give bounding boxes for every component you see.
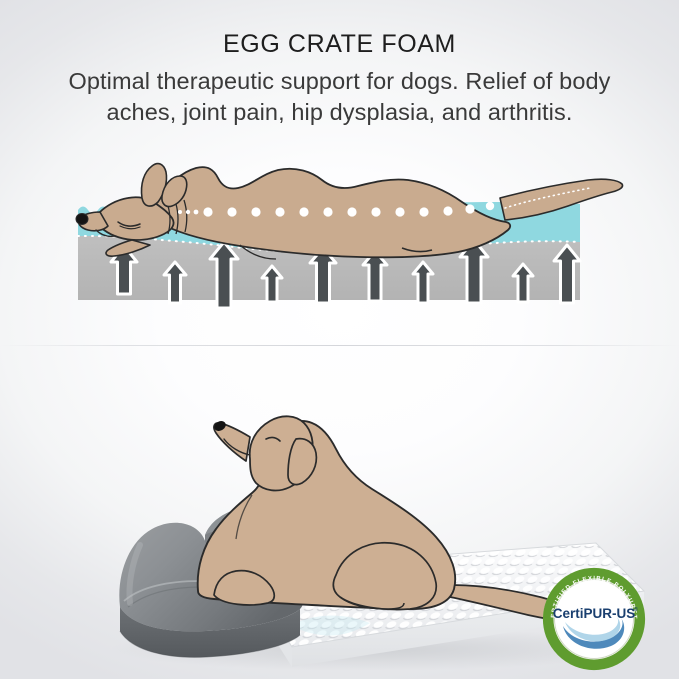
- egg-crate-foam-illustration: [0, 150, 679, 325]
- top-panel-title: EGG CRATE FOAM: [0, 30, 679, 59]
- product-infographic: EGG CRATE FOAM Optimal therapeutic suppo…: [0, 0, 679, 679]
- dog-nose: [76, 214, 88, 225]
- top-panel-subtitle: Optimal therapeutic support for dogs. Re…: [34, 66, 645, 129]
- badge-brand-text: CertiPUR-US: [553, 606, 636, 621]
- certipur-us-badge: CONTAINS CERTIFIED FLEXIBLE POLYURETHANE…: [541, 566, 647, 672]
- badge-trademark: ®: [634, 606, 638, 613]
